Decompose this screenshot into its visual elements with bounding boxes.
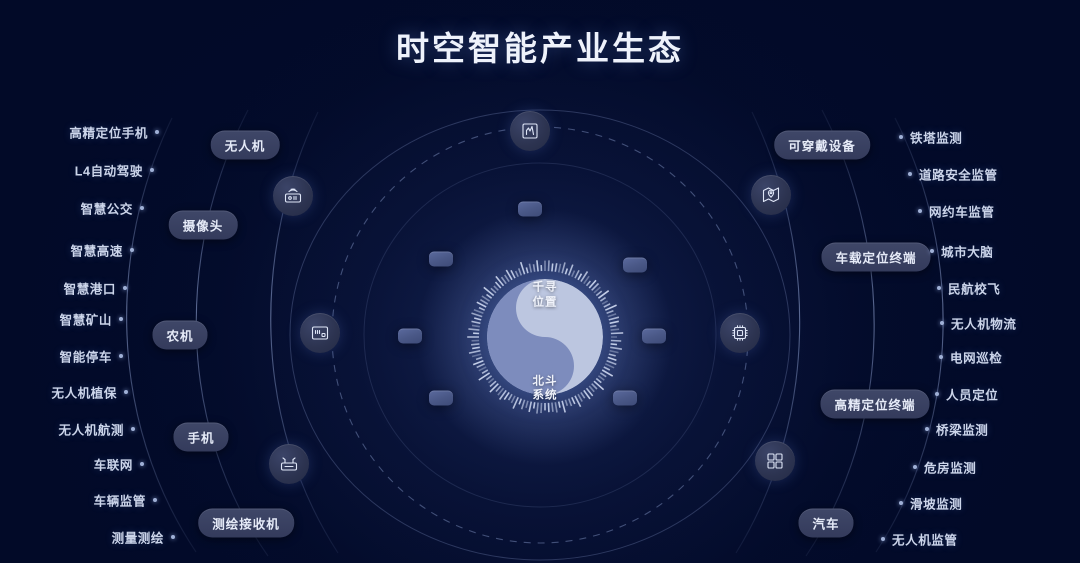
scenario-dot (935, 392, 939, 396)
scenario-label[interactable]: 智能停车 (60, 347, 112, 366)
product-box-finds[interactable] (398, 329, 422, 344)
scenario-dot (899, 135, 903, 139)
icon-node-module[interactable] (720, 313, 760, 358)
scenario-dot (939, 355, 943, 359)
product-box-findmm[interactable] (642, 329, 666, 344)
scenario-label[interactable]: 测量测绘 (112, 528, 164, 547)
module-icon (720, 313, 760, 353)
chip-icon (510, 111, 550, 151)
devboard-icon (300, 313, 340, 353)
scenario-dot (119, 354, 123, 358)
scenario-dot (925, 427, 929, 431)
scenario-label[interactable]: 民航校飞 (948, 279, 1000, 298)
core-label-beidou: 北斗系统 (533, 375, 558, 404)
scenario-label[interactable]: 危房监测 (924, 458, 976, 477)
scenario-dot (937, 286, 941, 290)
product-box-findnow[interactable] (623, 258, 647, 273)
device-pill-receiver[interactable]: 测绘接收机 (198, 509, 294, 538)
scenario-dot (150, 168, 154, 172)
center-core: 千寻位置 北斗系统 (415, 207, 675, 467)
icon-node-devboard[interactable] (300, 313, 340, 358)
scenario-label[interactable]: 电网巡检 (950, 348, 1002, 367)
scenario-label[interactable]: 滑坡监测 (910, 494, 962, 513)
page-title: 时空智能产业生态 (0, 22, 1080, 70)
scenario-label[interactable]: 人员定位 (946, 385, 998, 404)
device-pill-wearable[interactable]: 可穿戴设备 (774, 131, 870, 160)
device-pill-camera[interactable]: 摄像头 (169, 211, 238, 240)
scenario-label[interactable]: L4自动驾驶 (75, 161, 143, 180)
icon-node-antenna[interactable] (269, 444, 309, 489)
device-pill-car[interactable]: 汽车 (798, 509, 853, 538)
device-pill-agri[interactable]: 农机 (152, 321, 207, 350)
scenario-label[interactable]: 智慧高速 (71, 241, 123, 260)
scenario-label[interactable]: 高精定位手机 (69, 123, 148, 142)
scenario-dot (130, 248, 134, 252)
icon-node-os[interactable] (755, 441, 795, 486)
scenario-label[interactable]: 无人机监管 (892, 530, 958, 549)
scenario-dot (140, 206, 144, 210)
scenario-label[interactable]: 桥梁监测 (936, 420, 988, 439)
antenna-icon (269, 444, 309, 484)
scenario-label[interactable]: 无人机航测 (58, 420, 124, 439)
grid-icon (755, 441, 795, 481)
scenario-dot (124, 390, 128, 394)
core-label-qianxun: 千寻位置 (533, 281, 558, 310)
product-box-findpixel[interactable] (429, 391, 453, 406)
icon-node-chip[interactable] (510, 111, 550, 156)
scenario-label[interactable]: 道路安全监管 (919, 165, 998, 184)
scenario-dot (930, 249, 934, 253)
sensor-icon (273, 176, 313, 216)
scenario-label[interactable]: 智慧矿山 (60, 310, 112, 329)
scenario-label[interactable]: 智慧公交 (81, 199, 133, 218)
scenario-dot (171, 535, 175, 539)
scenario-dot (131, 427, 135, 431)
scenario-dot (119, 317, 123, 321)
icon-node-hdmap[interactable] (751, 175, 791, 220)
scenario-dot (123, 286, 127, 290)
scenario-dot (155, 130, 159, 134)
scenario-dot (940, 321, 944, 325)
device-pill-uav[interactable]: 无人机 (211, 131, 280, 160)
scenario-label[interactable]: 城市大脑 (941, 242, 993, 261)
product-box-findtrace[interactable] (613, 391, 637, 406)
scenario-dot (140, 462, 144, 466)
map-pin-icon (751, 175, 791, 215)
scenario-label[interactable]: 网约车监管 (929, 202, 995, 221)
scenario-label[interactable]: 无人机物流 (951, 314, 1017, 333)
scenario-dot (881, 537, 885, 541)
scenario-label[interactable]: 车联网 (94, 455, 133, 474)
scenario-dot (899, 501, 903, 505)
product-box-findmpro[interactable] (429, 252, 453, 267)
icon-node-sensor[interactable] (273, 176, 313, 221)
scenario-dot (918, 209, 922, 213)
scenario-dot (913, 465, 917, 469)
scenario-label[interactable]: 智慧港口 (64, 279, 116, 298)
scenario-label[interactable]: 铁塔监测 (910, 128, 962, 147)
device-pill-vterminal[interactable]: 车载定位终端 (821, 243, 930, 272)
device-pill-phone[interactable]: 手机 (173, 423, 228, 452)
scenario-dot (908, 172, 912, 176)
product-box-findcm[interactable] (518, 202, 542, 217)
device-pill-hpterminal[interactable]: 高精定位终端 (820, 390, 929, 419)
diagram-canvas: 时空智能产业生态 千寻位置 北斗系统 无人机摄像头农机手机测绘接收机可穿戴设备车… (0, 0, 1080, 563)
scenario-label[interactable]: 无人机植保 (51, 383, 117, 402)
scenario-label[interactable]: 车辆监管 (94, 491, 146, 510)
scenario-dot (153, 498, 157, 502)
